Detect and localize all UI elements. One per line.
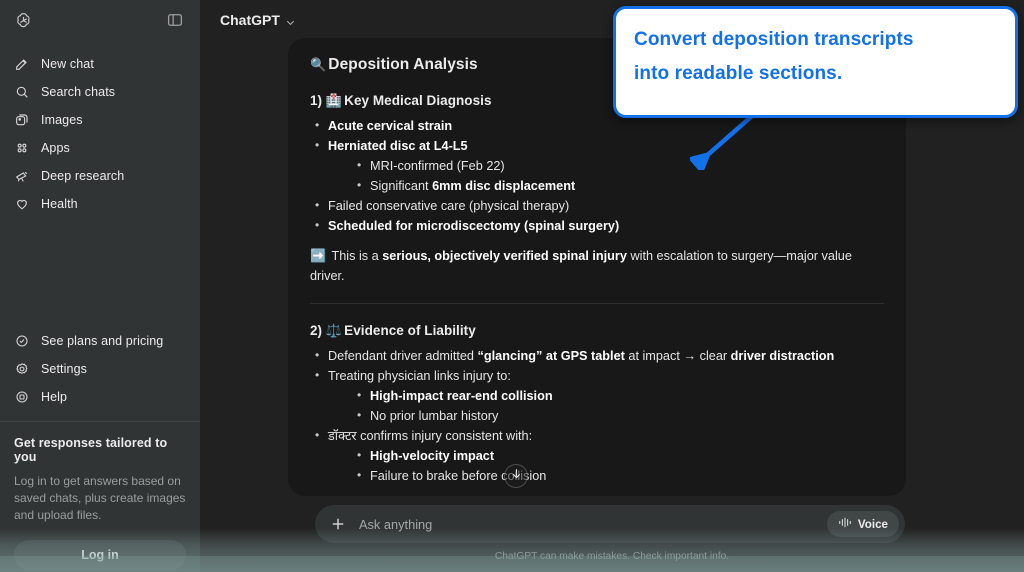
sidebar-item-label: Help bbox=[41, 390, 67, 404]
list-item-strong: “glancing” at GPS tablet bbox=[478, 349, 625, 363]
waveform-icon bbox=[838, 517, 852, 531]
conclusion-prefix: This is a bbox=[331, 249, 382, 263]
sub-item-text: Significant bbox=[370, 179, 432, 193]
liability-list: Defendant driver admitted “glancing” at … bbox=[310, 346, 884, 486]
voice-button[interactable]: Voice bbox=[827, 511, 899, 537]
composer-bar: Voice bbox=[315, 505, 905, 543]
list-item: High-velocity impact bbox=[352, 446, 884, 466]
sub-item-text: No prior lumbar history bbox=[370, 409, 498, 423]
sidebar-toggle-icon[interactable] bbox=[166, 11, 184, 29]
list-item-text: at impact → clear bbox=[625, 349, 731, 363]
list-item-text: Scheduled for microdiscectomy (spinal su… bbox=[328, 219, 619, 233]
sidebar-item-apps[interactable]: Apps bbox=[0, 134, 200, 162]
list-item-text: Defendant driver admitted bbox=[328, 349, 478, 363]
balance-scale-emoji-icon: ⚖️ bbox=[326, 323, 342, 338]
sidebar-item-new-chat[interactable]: New chat bbox=[0, 50, 200, 78]
sidebar-item-label: Apps bbox=[41, 141, 70, 155]
liability-sublist-doctor: High-velocity impact Failure to brake be… bbox=[352, 446, 884, 486]
liability-sublist-physician: High-impact rear-end collision No prior … bbox=[352, 386, 884, 426]
section-number: 2) bbox=[310, 323, 322, 338]
gear-icon bbox=[14, 361, 30, 377]
model-selector[interactable]: ChatGPT bbox=[212, 8, 304, 32]
list-item-strong: driver distraction bbox=[731, 349, 835, 363]
callout-line-2: into readable sections. bbox=[634, 57, 997, 91]
section-heading-text: Evidence of Liability bbox=[344, 323, 476, 338]
ask-anything-input[interactable] bbox=[347, 517, 827, 532]
login-button[interactable]: Log in bbox=[14, 540, 186, 570]
callout-arrow-icon bbox=[690, 112, 760, 170]
medical-list: Acute cervical strain Herniated disc at … bbox=[310, 116, 884, 236]
list-item-text: Treating physician links injury to: bbox=[328, 369, 511, 383]
list-item: Defendant driver admitted “glancing” at … bbox=[310, 346, 884, 366]
grid-apps-icon bbox=[14, 140, 30, 156]
sidebar-item-label: Deep research bbox=[41, 169, 124, 183]
sidebar-item-images[interactable]: Images bbox=[0, 106, 200, 134]
sidebar-item-search-chats[interactable]: Search chats bbox=[0, 78, 200, 106]
search-icon bbox=[14, 84, 30, 100]
hospital-emoji-icon: 🏥 bbox=[326, 93, 342, 108]
conclusion-strong: serious, objectively verified spinal inj… bbox=[382, 249, 627, 263]
list-item: High-impact rear-end collision bbox=[352, 386, 884, 406]
sidebar-item-label: New chat bbox=[41, 57, 94, 71]
list-item: Failure to brake before collision bbox=[352, 466, 884, 486]
sidebar-item-label: Health bbox=[41, 197, 78, 211]
list-item-text: Herniated disc at L4-L5 bbox=[328, 139, 468, 153]
list-item: Failed conservative care (physical thera… bbox=[310, 196, 884, 216]
list-item: MRI-confirmed (Feb 22) bbox=[352, 156, 884, 176]
pencil-square-icon bbox=[14, 56, 30, 72]
section-divider bbox=[310, 303, 884, 304]
callout-line-1: Convert deposition transcripts bbox=[634, 23, 997, 57]
card-title-text: Deposition Analysis bbox=[328, 56, 477, 73]
sub-item-strong: High-velocity impact bbox=[370, 449, 494, 463]
sub-item-text: MRI-confirmed (Feb 22) bbox=[370, 159, 505, 173]
app-root: New chat Search chats Images bbox=[0, 0, 1024, 572]
medical-conclusion: ➡️ This is a serious, objectively verifi… bbox=[310, 246, 884, 286]
sidebar-item-label: See plans and pricing bbox=[41, 334, 163, 348]
sidebar-item-deep-research[interactable]: Deep research bbox=[0, 162, 200, 190]
sidebar-item-settings[interactable]: Settings bbox=[0, 355, 200, 383]
sidebar-nav: New chat Search chats Images bbox=[0, 50, 200, 218]
callout-bubble: Convert deposition transcripts into read… bbox=[613, 6, 1018, 118]
images-icon bbox=[14, 112, 30, 128]
list-item: Significant 6mm disc displacement bbox=[352, 176, 884, 196]
sparkle-badge-icon bbox=[14, 333, 30, 349]
heart-icon bbox=[14, 196, 30, 212]
section-heading-text: Key Medical Diagnosis bbox=[344, 93, 491, 108]
magnifier-emoji-icon: 🔍 bbox=[310, 57, 326, 72]
list-item-text: डॉक्टर confirms injury consistent with: bbox=[328, 429, 532, 443]
sidebar-item-plans-pricing[interactable]: See plans and pricing bbox=[0, 327, 200, 355]
promo-title: Get responses tailored to you bbox=[14, 436, 186, 464]
promo-body: Log in to get answers based on saved cha… bbox=[14, 473, 186, 524]
list-item: No prior lumbar history bbox=[352, 406, 884, 426]
section-heading-liability: 2) ⚖️Evidence of Liability bbox=[310, 323, 884, 339]
sidebar-item-label: Search chats bbox=[41, 85, 115, 99]
list-item: Treating physician links injury to: High… bbox=[310, 366, 884, 426]
sidebar-header bbox=[0, 0, 200, 40]
list-item: डॉक्टर confirms injury consistent with: … bbox=[310, 426, 884, 486]
list-item: Acute cervical strain bbox=[310, 116, 884, 136]
sidebar-item-label: Settings bbox=[41, 362, 87, 376]
disclaimer-text: ChatGPT can make mistakes. Check importa… bbox=[200, 551, 1024, 562]
openai-logo-icon bbox=[14, 11, 33, 30]
arrow-down-icon bbox=[510, 467, 523, 485]
lifebuoy-icon bbox=[14, 389, 30, 405]
sidebar-item-label: Images bbox=[41, 113, 83, 127]
list-item-text: Failed conservative care (physical thera… bbox=[328, 199, 569, 213]
sidebar: New chat Search chats Images bbox=[0, 0, 200, 572]
telescope-icon bbox=[14, 168, 30, 184]
list-item-text: Acute cervical strain bbox=[328, 119, 452, 133]
sub-item-strong: 6mm disc displacement bbox=[432, 179, 575, 193]
scroll-to-bottom-button[interactable] bbox=[504, 464, 528, 488]
plus-icon[interactable] bbox=[329, 515, 347, 533]
list-item: Herniated disc at L4-L5 MRI-confirmed (F… bbox=[310, 136, 884, 196]
medical-sublist: MRI-confirmed (Feb 22) Significant 6mm d… bbox=[352, 156, 884, 196]
section-number: 1) bbox=[310, 93, 322, 108]
list-item: Scheduled for microdiscectomy (spinal su… bbox=[310, 216, 884, 236]
sidebar-item-help[interactable]: Help bbox=[0, 383, 200, 411]
sub-item-strong: High-impact rear-end collision bbox=[370, 389, 553, 403]
model-name: ChatGPT bbox=[220, 12, 280, 28]
sidebar-footer: See plans and pricing Settings Help bbox=[0, 327, 200, 572]
sidebar-spacer bbox=[0, 218, 200, 327]
chevron-down-icon bbox=[285, 15, 296, 26]
sidebar-item-health[interactable]: Health bbox=[0, 190, 200, 218]
voice-button-label: Voice bbox=[858, 518, 888, 531]
right-arrow-emoji-icon: ➡️ bbox=[310, 248, 326, 263]
login-promo: Get responses tailored to you Log in to … bbox=[0, 422, 200, 524]
